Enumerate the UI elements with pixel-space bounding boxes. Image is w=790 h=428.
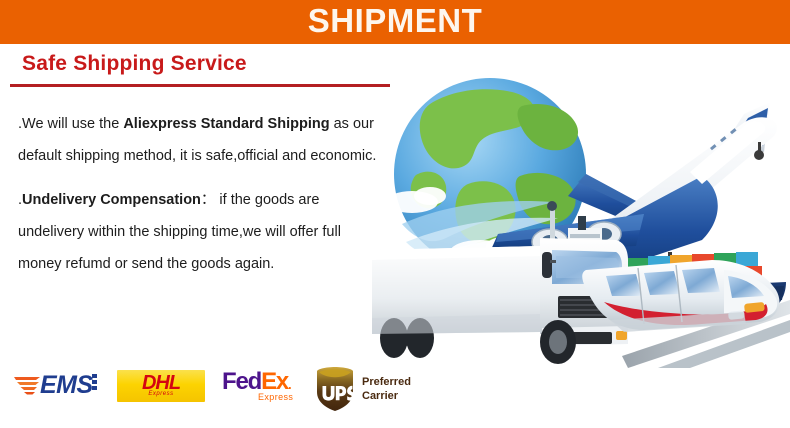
ups-shield-icon — [314, 366, 356, 412]
ups-logo: Preferred Carrier — [314, 366, 424, 412]
dhl-logo: DHL Express — [117, 366, 205, 406]
section-heading: Safe Shipping Service — [22, 52, 247, 76]
carrier-logo-strip: EMS DHL Express FedEx. Express — [0, 366, 420, 414]
fedex-subtext: Express — [258, 392, 293, 402]
fedex-logo: FedEx. Express — [222, 366, 306, 406]
p1-bold: Aliexpress Standard Shipping — [123, 116, 329, 132]
ems-logo: EMS — [14, 366, 100, 406]
shipping-illustration-graphic — [372, 56, 790, 368]
high-speed-train-graphic — [582, 260, 790, 368]
ups-caption: Preferred Carrier — [362, 375, 411, 403]
shipping-illustration — [372, 56, 790, 368]
fedex-fed-text: Fed — [222, 368, 261, 395]
dhl-wordmark: DHL — [125, 373, 197, 393]
body-copy: .We will use the Aliexpress Standard Shi… — [18, 108, 388, 292]
cargo-truck-graphic — [372, 238, 628, 364]
ups-caption-line2: Carrier — [362, 389, 411, 403]
shipment-banner: SHIPMENT Safe Shipping Service .We will … — [0, 0, 790, 428]
ems-dots-icon — [92, 374, 97, 390]
ups-caption-line1: Preferred — [362, 375, 411, 389]
paragraph-standard-shipping: .We will use the Aliexpress Standard Shi… — [18, 108, 388, 172]
dhl-subtext: Express — [125, 391, 197, 397]
p2-bold: Undelivery Compensation — [22, 192, 201, 208]
fedex-ex-text: Ex — [261, 368, 288, 395]
paragraph-undelivery-compensation: .Undelivery Compensation： if the goods a… — [18, 184, 388, 280]
p1-lead: .We will use the — [18, 116, 123, 132]
page-title: SHIPMENT — [0, 0, 790, 44]
heading-divider — [10, 84, 390, 87]
ems-wordmark: EMS — [40, 371, 93, 399]
fedex-dot-icon: . — [288, 377, 290, 392]
